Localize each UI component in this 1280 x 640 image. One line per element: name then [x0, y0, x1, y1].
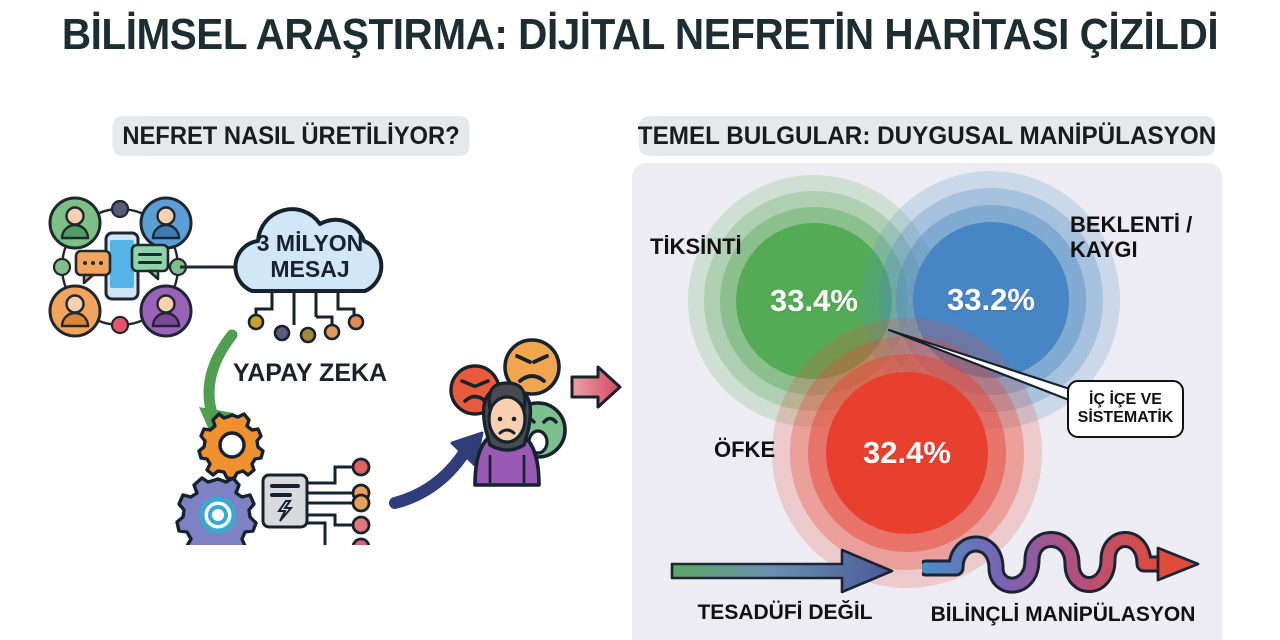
- circuit-legs-icon: [256, 291, 354, 325]
- venn-value-red: 32.4%: [863, 435, 951, 471]
- social-network-icon: [50, 198, 191, 336]
- process-illustration: 3 MİLYON MESAJ YAPAY ZEKA: [20, 185, 630, 545]
- callout-line1: İÇ İÇE VE: [1078, 391, 1174, 409]
- infographic-canvas: BİLİMSEL ARAŞTIRMA: DİJİTAL NEFRETİN HAR…: [0, 0, 1280, 640]
- section-header-left-label: NEFRET NASIL ÜRETİLİYOR?: [122, 122, 459, 151]
- ai-label: YAPAY ZEKA: [233, 359, 387, 387]
- straight-pink-arrow-icon: [572, 367, 620, 407]
- venn-label-red: ÖFKE: [714, 438, 775, 463]
- section-header-left: NEFRET NASIL ÜRETİLİYOR?: [112, 116, 469, 156]
- callout-annotation: İÇ İÇE VE SİSTEMATİK: [1067, 380, 1184, 438]
- findings-panel: 33.4% 33.2% 32.4% TİKSİNTİ BEKLENTİ / KA…: [632, 163, 1222, 640]
- curved-navy-arrow-icon: [395, 433, 482, 503]
- gears-circuit-icon: [177, 414, 369, 545]
- venn-label-blue: BEKLENTİ / KAYGI: [1070, 213, 1192, 262]
- cloud-label-line1: 3 MİLYON: [257, 230, 364, 256]
- venn-diagram: 33.4% 33.2% 32.4% TİKSİNTİ BEKLENTİ / KA…: [632, 163, 1222, 563]
- straight-gradient-arrow-icon: [670, 548, 900, 594]
- venn-label-blue-line1: BEKLENTİ /: [1070, 213, 1192, 238]
- callout-leader-line: [887, 328, 1087, 408]
- arrow-wavy-group: BİLİNÇLİ MANİPÜLASYON: [922, 518, 1204, 627]
- arrow-straight-group: TESADÜFİ DEĞİL: [670, 548, 900, 625]
- section-header-right-label: TEMEL BULGULAR: DUYGUSAL MANİPÜLASYON: [638, 122, 1216, 151]
- wavy-gradient-arrow-icon: [922, 518, 1204, 596]
- callout-line2: SİSTEMATİK: [1078, 409, 1174, 427]
- page-title: BİLİMSEL ARAŞTIRMA: DİJİTAL NEFRETİN HAR…: [51, 10, 1229, 60]
- section-header-right: TEMEL BULGULAR: DUYGUSAL MANİPÜLASYON: [639, 116, 1215, 156]
- cloud-label-line2: MESAJ: [270, 256, 349, 282]
- venn-value-green: 33.4%: [770, 283, 858, 319]
- arrow-wavy-caption: BİLİNÇLİ MANİPÜLASYON: [922, 603, 1204, 627]
- venn-label-blue-line2: KAYGI: [1070, 238, 1192, 263]
- arrow-straight-caption: TESADÜFİ DEĞİL: [670, 601, 900, 625]
- venn-value-blue: 33.2%: [947, 282, 1035, 318]
- venn-label-green: TİKSİNTİ: [650, 235, 742, 260]
